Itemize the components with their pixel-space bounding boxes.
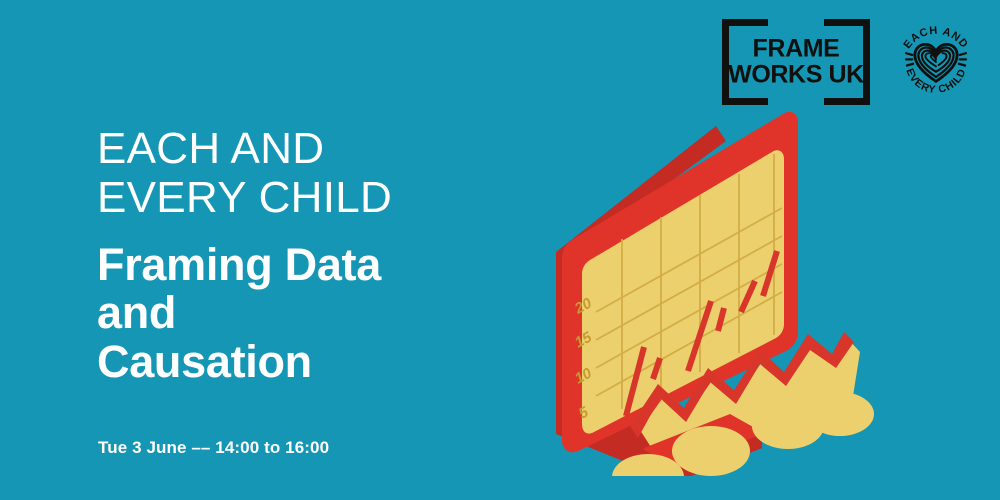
page-title: Framing Data and Causation: [97, 241, 392, 387]
frameworks-line-2: WORKS UK: [722, 62, 870, 88]
eec-top-text: EACH AND: [901, 25, 970, 51]
kicker-text: EACH AND EVERY CHILD: [97, 124, 392, 223]
event-datetime: Tue 3 June –– 14:00 to 16:00: [98, 438, 329, 458]
heart-maze-icon: [915, 44, 957, 81]
each-and-every-child-logo: EACH AND EVERY CHILD: [892, 18, 980, 106]
illustration-isometric-monitor: 20 15 10 5: [548, 96, 893, 476]
frameworks-uk-wordmark: FRAME WORKS UK: [722, 37, 870, 88]
coin: [806, 392, 874, 436]
frameworks-uk-logo: FRAME WORKS UK: [722, 19, 870, 105]
logo-row: FRAME WORKS UK EACH AND EVERY CHILD: [722, 18, 980, 106]
frameworks-line-1: FRAME: [722, 37, 870, 63]
coin: [672, 426, 750, 476]
headline-block: EACH AND EVERY CHILD Framing Data and Ca…: [97, 124, 392, 386]
event-banner: FRAME WORKS UK EACH AND EVERY CHILD: [0, 0, 1000, 500]
